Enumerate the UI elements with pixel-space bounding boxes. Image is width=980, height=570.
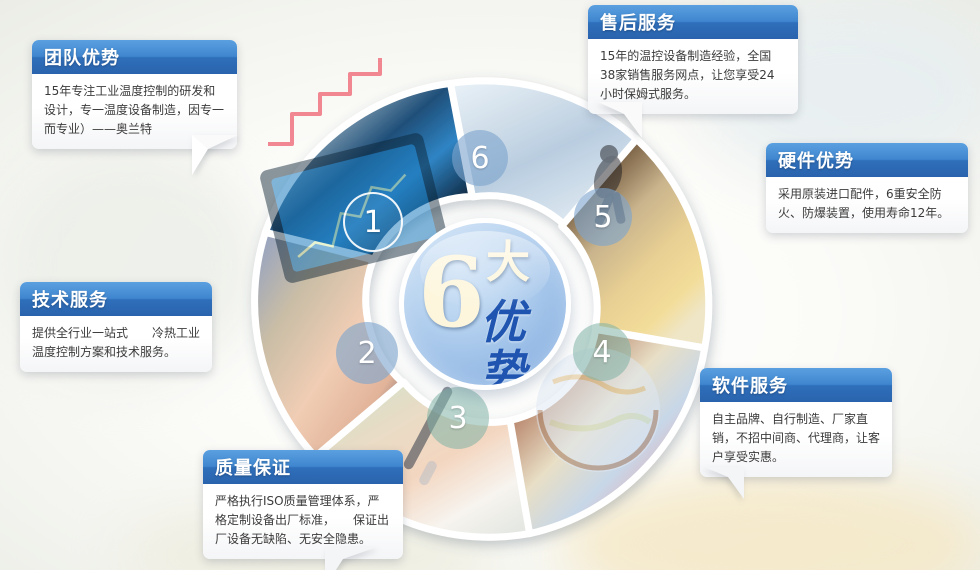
callout-title-quality: 质量保证 bbox=[215, 454, 291, 480]
callout-header-quality: 质量保证 bbox=[203, 450, 403, 484]
callout-card-after-sales[interactable]: 售后服务 15年的温控设备制造经验，全国38家销售服务网点，让您享受24小时保姆… bbox=[588, 5, 798, 114]
callout-tail-team bbox=[192, 135, 238, 175]
center-number: 6 bbox=[418, 245, 485, 341]
callout-tail-quality bbox=[325, 547, 377, 570]
infographic-canvas: 1 2 3 4 5 6 6 大 优势 团队优势 15年专注工业温度控制的研发和设… bbox=[0, 0, 980, 570]
segment-number-6-label: 6 bbox=[470, 141, 489, 176]
callout-card-team[interactable]: 团队优势 15年专注工业温度控制的研发和设计，专一温度设备制造，因专一而专业）—… bbox=[32, 40, 237, 149]
segment-number-3-label: 3 bbox=[448, 401, 467, 436]
callout-header-hardware: 硬件优势 bbox=[766, 143, 968, 177]
segment-number-1-label: 1 bbox=[363, 205, 382, 240]
callout-title-after-sales: 售后服务 bbox=[600, 9, 676, 35]
callout-title-software: 软件服务 bbox=[712, 372, 788, 398]
decorative-growth-arrow bbox=[258, 48, 438, 158]
callout-body-hardware: 采用原装进口配件，6重安全防火、防爆装置，使用寿命12年。 bbox=[766, 177, 968, 233]
callout-header-team: 团队优势 bbox=[32, 40, 237, 74]
callout-body-software: 自主品牌、自行制造、厂家直销，不招中间商、代理商，让客户享受实惠。 bbox=[700, 402, 892, 477]
callout-title-team: 团队优势 bbox=[44, 44, 120, 70]
callout-header-after-sales: 售后服务 bbox=[588, 5, 798, 39]
callout-title-hardware: 硬件优势 bbox=[778, 147, 854, 173]
segment-number-5[interactable]: 5 bbox=[574, 188, 632, 246]
callout-tail-software bbox=[704, 467, 744, 499]
segment-number-4-label: 4 bbox=[592, 335, 611, 370]
center-badge[interactable]: 6 大 优势 bbox=[399, 218, 571, 390]
segment-number-2-label: 2 bbox=[357, 336, 376, 371]
callout-card-software[interactable]: 软件服务 自主品牌、自行制造、厂家直销，不招中间商、代理商，让客户享受实惠。 bbox=[700, 368, 892, 477]
callout-title-tech: 技术服务 bbox=[32, 286, 108, 312]
callout-body-tech: 提供全行业一站式 冷热工业温度控制方案和技术服务。 bbox=[20, 316, 212, 372]
callout-card-quality[interactable]: 质量保证 严格执行ISO质量管理体系，严格定制设备出厂标准， 保证出厂设备无缺陷… bbox=[203, 450, 403, 559]
segment-number-5-label: 5 bbox=[593, 200, 612, 235]
callout-card-tech[interactable]: 技术服务 提供全行业一站式 冷热工业温度控制方案和技术服务。 bbox=[20, 282, 212, 372]
center-big-word: 大 bbox=[486, 241, 530, 285]
segment-number-3[interactable]: 3 bbox=[427, 387, 489, 449]
callout-header-software: 软件服务 bbox=[700, 368, 892, 402]
callout-card-hardware[interactable]: 硬件优势 采用原装进口配件，6重安全防火、防爆装置，使用寿命12年。 bbox=[766, 143, 968, 233]
center-sub-word: 优势 bbox=[480, 297, 566, 390]
callout-header-tech: 技术服务 bbox=[20, 282, 212, 316]
segment-number-6[interactable]: 6 bbox=[452, 130, 508, 186]
callout-tail-after-sales bbox=[598, 102, 642, 138]
segment-number-1[interactable]: 1 bbox=[343, 192, 403, 252]
segment-number-4[interactable]: 4 bbox=[573, 323, 631, 381]
segment-number-2[interactable]: 2 bbox=[336, 322, 398, 384]
